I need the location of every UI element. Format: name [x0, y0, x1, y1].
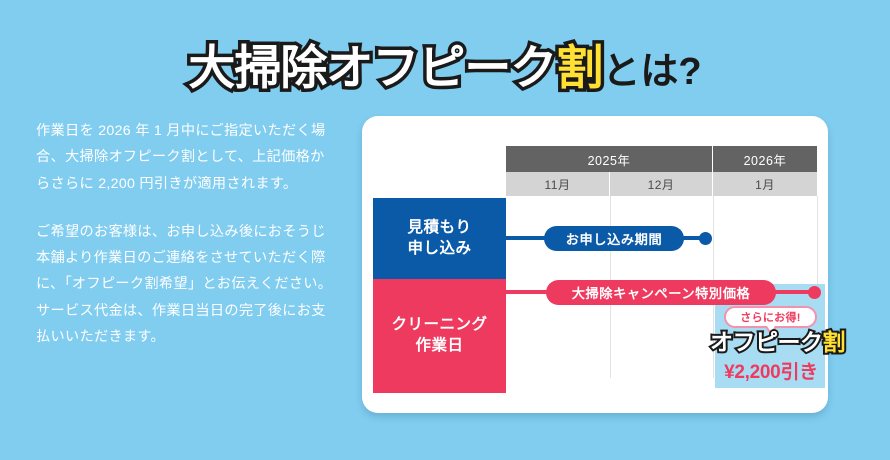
header-month-dec-label: 12月 — [648, 176, 675, 193]
header-year-2025-label: 2025年 — [588, 150, 631, 169]
row-label-cleaning-line2: 作業日 — [415, 336, 463, 357]
timeline-pill-cleaning: 大掃除キャンペーン特別価格 — [546, 280, 776, 305]
extra-savings-bubble: さらにお得! — [724, 306, 817, 328]
schedule-header-years: 2025年 2026年 — [506, 146, 817, 172]
description-paragraph-1: 作業日を 2026 年 1 月中にご指定いただく場合、大掃除オフピーク割として、… — [36, 118, 336, 197]
header-month-nov-label: 11月 — [545, 176, 571, 193]
row-label-estimate-line2: 申し込み — [407, 239, 471, 260]
offpeak-headline: オフピーク割 — [710, 331, 832, 354]
row-label-estimate-line1: 見積もり — [407, 218, 471, 239]
timeline-pill-estimate: お申し込み期間 — [544, 226, 684, 251]
header-month-nov: 11月 — [506, 172, 610, 196]
timeline-endpoint-estimate — [699, 232, 712, 245]
header-month-jan-label: 1月 — [755, 176, 775, 193]
description-paragraph-2: ご希望のお客様は、お申し込み後におそうじ本舗より作業日のご連絡をさせていただく際… — [36, 219, 336, 350]
page-title-highlight: 割 — [556, 41, 602, 94]
timeline-pill-cleaning-label: 大掃除キャンペーン特別価格 — [572, 283, 751, 302]
header-month-dec: 12月 — [610, 172, 713, 196]
extra-savings-bubble-label: さらにお得! — [740, 309, 800, 325]
row-label-estimate: 見積もり 申し込み — [373, 198, 506, 279]
description-text: 作業日を 2026 年 1 月中にご指定いただく場合、大掃除オフピーク割として、… — [36, 118, 336, 350]
offpeak-price: ¥2,200引き — [710, 357, 832, 384]
schedule-header-months: 11月 12月 1月 — [506, 172, 817, 196]
timeline-pill-estimate-label: お申し込み期間 — [566, 229, 663, 248]
row-label-cleaning: クリーニング 作業日 — [373, 279, 506, 393]
timeline-endpoint-cleaning — [808, 286, 821, 299]
page-title-main: 大掃除オフピーク — [188, 41, 556, 94]
page-title-tail: とは? — [602, 51, 701, 93]
header-month-jan: 1月 — [713, 172, 817, 196]
schedule-card: 2025年 2026年 11月 12月 1月 見積もり 申し込み お申し込み期間… — [362, 116, 828, 413]
header-year-2026: 2026年 — [713, 146, 817, 172]
offpeak-headline-highlight: 割 — [823, 329, 846, 355]
header-year-2025: 2025年 — [506, 146, 713, 172]
page-title: 大掃除オフピーク割とは? — [0, 44, 890, 91]
row-label-cleaning-line1: クリーニング — [391, 315, 487, 336]
header-year-2026-label: 2026年 — [744, 150, 787, 169]
offpeak-headline-main: オフピーク — [710, 329, 823, 355]
